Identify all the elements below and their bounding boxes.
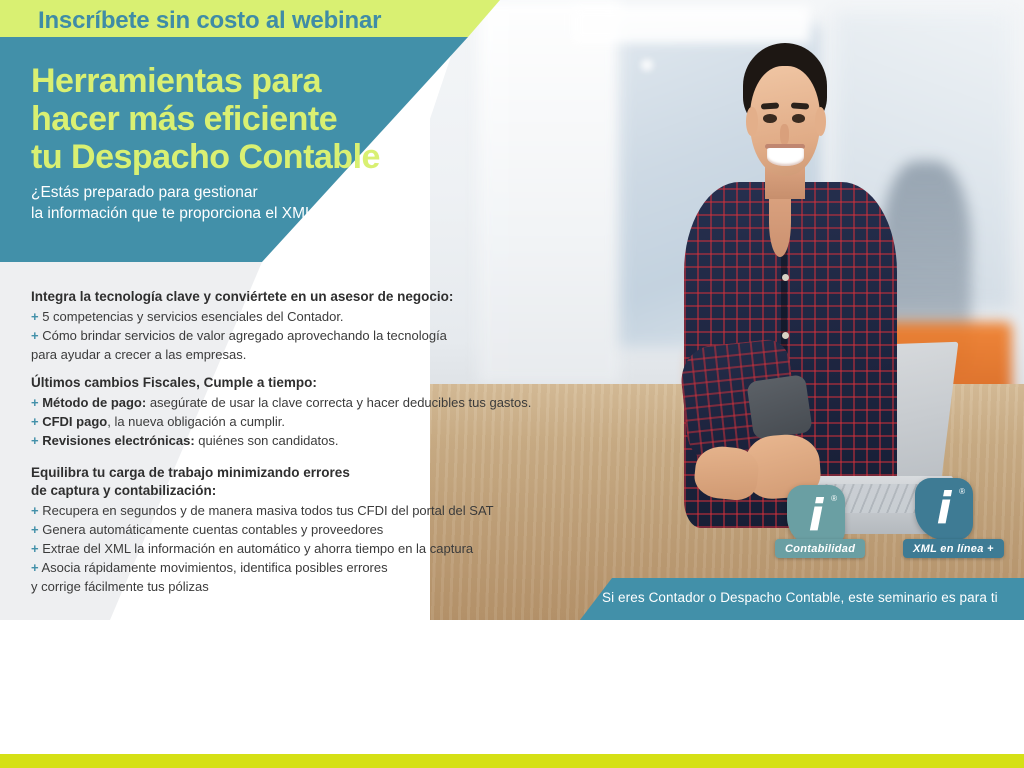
headline-line-3: tu Despacho Contable	[31, 138, 431, 176]
badge-registered-mark: ®	[831, 494, 837, 503]
list-item: + Revisiones electrónicas: quiénes son c…	[31, 432, 531, 451]
list-item: + Cómo brindar servicios de valor agrega…	[31, 327, 453, 346]
badge-registered-mark: ®	[959, 487, 965, 496]
photo-man-nose	[780, 124, 790, 145]
plus-icon: +	[31, 503, 39, 518]
list-item-bold: CFDI pago	[42, 414, 107, 429]
webinar-flyer: i ® Contabilidad i ® XML en línea + Insc…	[0, 0, 1024, 768]
photo-man	[584, 43, 952, 620]
section-continuation: y corrige fácilmente tus pólizas	[31, 578, 494, 597]
badge-i-glyph: i	[936, 487, 951, 531]
plus-icon: +	[31, 309, 39, 324]
plus-icon: +	[31, 541, 39, 556]
list-item-text: Extrae del XML la información en automát…	[42, 541, 473, 556]
photo-man-rolled-cuff	[746, 374, 812, 439]
photo-shirt-button	[782, 332, 789, 339]
bottom-accent-bar	[0, 754, 1024, 768]
list-item-text: 5 competencias y servicios esenciales de…	[42, 309, 343, 324]
list-item: + Método de pago: asegúrate de usar la c…	[31, 394, 531, 413]
agenda-section-2: Últimos cambios Fiscales, Cumple a tiemp…	[31, 374, 531, 451]
section-title: Equilibra tu carga de trabajo minimizand…	[31, 464, 494, 500]
plus-icon: +	[31, 414, 39, 429]
headline-line-2: hacer más eficiente	[31, 100, 431, 138]
plus-icon: +	[31, 560, 39, 575]
list-item: + Extrae del XML la información en autom…	[31, 540, 494, 559]
ribbon-text: Inscríbete sin costo al webinar	[38, 7, 381, 35]
footer: (775)-755-2163 (771) 177-3287 ventas@exi…	[0, 620, 1024, 754]
section-title: Integra la tecnología clave y conviértet…	[31, 288, 453, 306]
photo-shirt-button	[782, 274, 789, 281]
list-item: + 5 competencias y servicios esenciales …	[31, 308, 453, 327]
photo-man-ear-right	[815, 107, 826, 136]
plus-icon: +	[31, 328, 39, 343]
xml-en-linea-badge-label: XML en línea +	[903, 539, 1004, 558]
list-item: + CFDI pago, la nueva obligación a cumpl…	[31, 413, 531, 432]
list-item: + Recupera en segundos y de manera masiv…	[31, 502, 494, 521]
section-continuation: para ayudar a crecer a las empresas.	[31, 346, 453, 365]
page-subtitle: ¿Estás preparado para gestionar la infor…	[31, 183, 431, 225]
agenda-section-1: Integra la tecnología clave y conviértet…	[31, 288, 453, 365]
page-title: Herramientas para hacer más eficiente tu…	[31, 62, 431, 176]
list-item-text: Genera automáticamente cuentas contables…	[42, 522, 383, 537]
list-item-text: Cómo brindar servicios de valor agregado…	[42, 328, 447, 343]
photo-man-smile	[767, 148, 804, 165]
contabilidad-badge-label: Contabilidad	[775, 539, 865, 558]
subhead-line-2: la información que te proporciona el XML…	[31, 204, 431, 225]
list-item-text: Asocia rápidamente movimientos, identifi…	[42, 560, 388, 575]
contabilidad-badge-icon: i ®	[787, 485, 845, 547]
list-item-bold: Método de pago:	[42, 395, 146, 410]
agenda-section-3: Equilibra tu carga de trabajo minimizand…	[31, 464, 494, 597]
photo-man-eye-left	[763, 114, 776, 123]
badge-i-glyph: i	[808, 494, 823, 538]
photo-caption-text: Si eres Contador o Despacho Contable, es…	[602, 590, 998, 605]
subhead-line-1: ¿Estás preparado para gestionar	[31, 183, 431, 204]
list-item-text: asegúrate de usar la clave correcta y ha…	[146, 395, 531, 410]
list-item-bold: Revisiones electrónicas:	[42, 433, 194, 448]
plus-icon: +	[31, 433, 39, 448]
list-item-text: quiénes son candidatos.	[195, 433, 339, 448]
xml-en-linea-badge-icon: i ®	[915, 478, 973, 540]
plus-icon: +	[31, 522, 39, 537]
headline-line-1: Herramientas para	[31, 62, 431, 100]
photo-ceiling	[573, 6, 811, 43]
plus-icon: +	[31, 395, 39, 410]
list-item-text: , la nueva obligación a cumplir.	[107, 414, 285, 429]
section-title: Últimos cambios Fiscales, Cumple a tiemp…	[31, 374, 531, 392]
list-item: + Asocia rápidamente movimientos, identi…	[31, 559, 494, 578]
list-item-text: Recupera en segundos y de manera masiva …	[42, 503, 493, 518]
list-item: + Genera automáticamente cuentas contabl…	[31, 521, 494, 540]
photo-man-ear-left	[746, 107, 757, 136]
